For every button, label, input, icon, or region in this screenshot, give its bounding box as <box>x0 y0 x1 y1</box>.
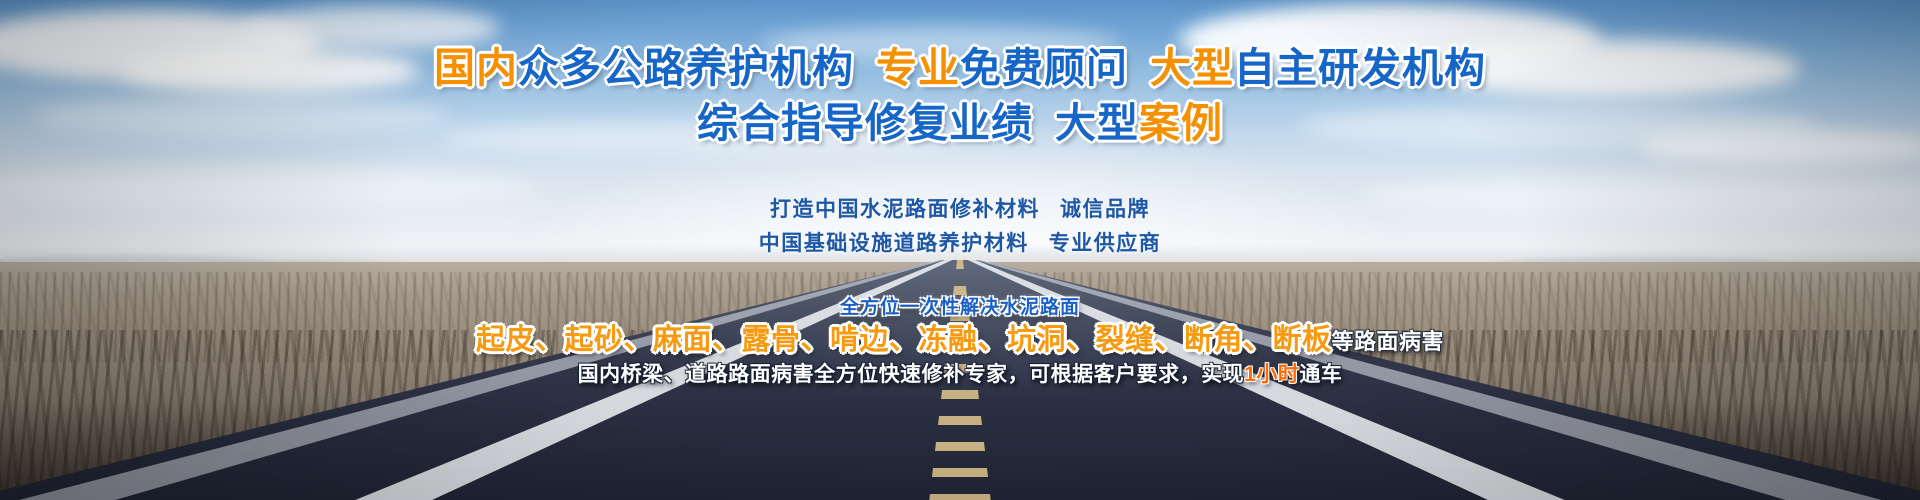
footer-diseases: 起皮、起砂、麻面、露骨、啃边、冻融、坑洞、裂缝、断角、断板 <box>476 324 1332 356</box>
promo-banner: 国内众多公路养护机构专业免费顾问大型自主研发机构 综合指导修复业绩大型案例 打造… <box>0 0 1920 500</box>
headline-1-seg-2: 众多公路养护机构 <box>518 45 854 91</box>
footer-tagline-b: 通车 <box>1299 363 1342 386</box>
headline-line-1: 国内众多公路养护机构专业免费顾问大型自主研发机构 <box>0 48 1920 89</box>
subtext-1-b: 诚信品牌 <box>1060 198 1150 221</box>
footer-diseases-suffix: 等路面病害 <box>1332 329 1445 354</box>
subtext-2-a: 中国基础设施道路养护材料 <box>759 232 1029 255</box>
footer-tagline-a: 国内桥梁、道路路面病害全方位快速修补专家，可根据客户要求，实现 <box>578 363 1245 386</box>
headline-1-seg-5: 大型 <box>1150 45 1234 91</box>
headline-1-seg-6: 自主研发机构 <box>1234 45 1486 91</box>
headline-1-seg-3: 专业 <box>876 45 960 91</box>
headline-2-seg-3: 案例 <box>1139 100 1223 146</box>
footer-disease-list: 起皮、起砂、麻面、露骨、啃边、冻融、坑洞、裂缝、断角、断板等路面病害 <box>0 316 1920 358</box>
headline-line-2: 综合指导修复业绩大型案例 <box>0 103 1920 144</box>
banner-content: 国内众多公路养护机构专业免费顾问大型自主研发机构 综合指导修复业绩大型案例 打造… <box>0 0 1920 500</box>
footer-tagline: 国内桥梁、道路路面病害全方位快速修补专家，可根据客户要求，实现1小时通车 <box>0 358 1920 388</box>
subtext-2-b: 专业供应商 <box>1049 232 1162 255</box>
footer-lead: 全方位一次性解决水泥路面 <box>0 292 1920 319</box>
subtext-line-2: 中国基础设施道路养护材料专业供应商 <box>0 227 1920 257</box>
footer-tagline-highlight: 1小时 <box>1244 363 1299 386</box>
headline-2-seg-2: 大型 <box>1055 100 1139 146</box>
headline-2-seg-1: 综合指导修复业绩 <box>697 100 1033 146</box>
subtext-1-a: 打造中国水泥路面修补材料 <box>770 198 1040 221</box>
subtext-line-1: 打造中国水泥路面修补材料诚信品牌 <box>0 193 1920 223</box>
headline-1-seg-1: 国内 <box>434 45 518 91</box>
headline-1-seg-4: 免费顾问 <box>960 45 1128 91</box>
